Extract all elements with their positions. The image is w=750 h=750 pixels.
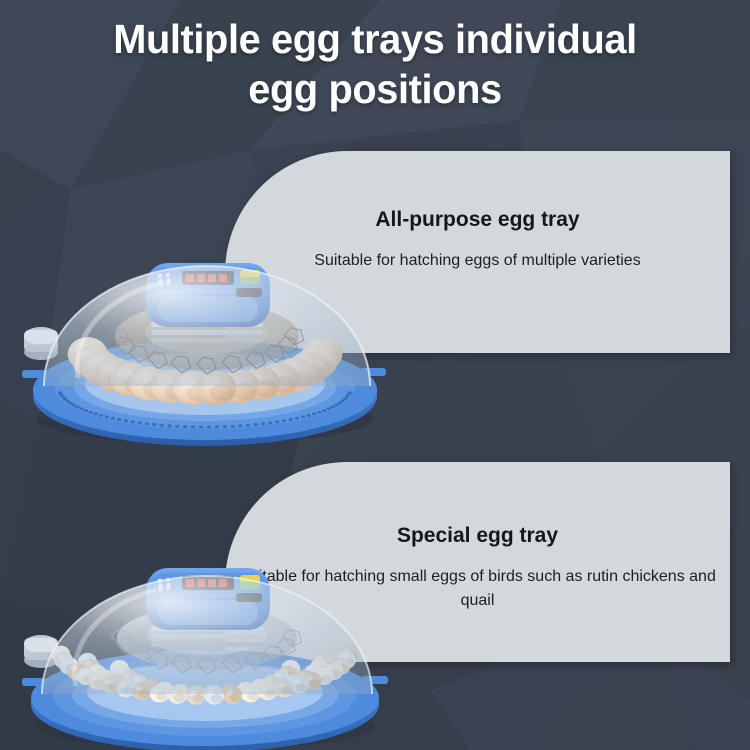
product-image-special-incubator	[8, 528, 408, 750]
marketing-image: Multiple egg trays individual egg positi…	[0, 0, 750, 750]
title-line-2: egg positions	[11, 64, 739, 114]
page-title: Multiple egg trays individual egg positi…	[11, 14, 739, 114]
latch-tab	[348, 394, 374, 402]
latch-tab	[350, 702, 376, 710]
title-line-1: Multiple egg trays individual	[113, 16, 637, 62]
latch-tab	[22, 370, 46, 378]
product-image-all-purpose-incubator	[8, 218, 408, 448]
dome-lid	[42, 576, 372, 694]
